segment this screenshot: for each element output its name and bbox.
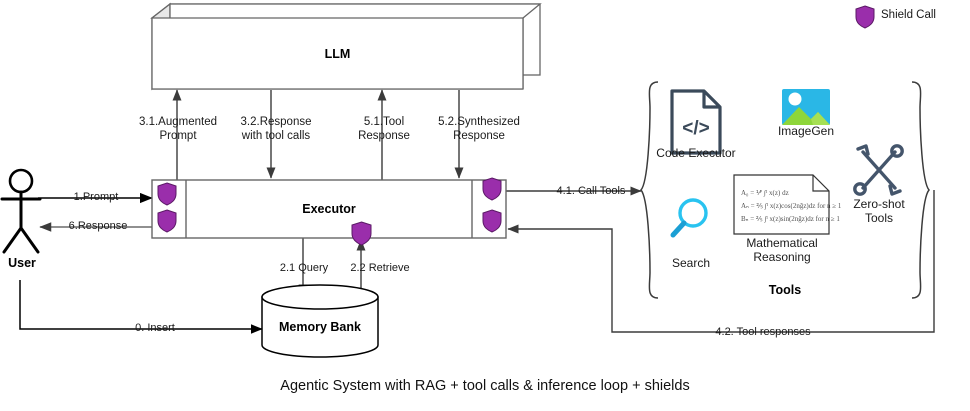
edge-label-prompt: 1.Prompt (48, 191, 144, 204)
tool-label-code-executor: Code Executor (646, 146, 746, 160)
edge-label-call-tools: 4.1. Call Tools (538, 185, 644, 198)
llm-label: LLM (152, 47, 523, 61)
tools-group-label: Tools (720, 283, 850, 297)
shield-icon (482, 177, 502, 201)
shield-icon (157, 209, 177, 233)
edge-label-response-with-tool-calls: 3.2.Response with tool calls (222, 116, 330, 143)
legend-shield-label: Shield Call (881, 9, 936, 21)
memory-bank-label: Memory Bank (262, 320, 378, 334)
user-label: User (0, 256, 44, 270)
svg-text:A₀ = ⅟ᴾ ∫ᴵ x(z) dz: A₀ = ⅟ᴾ ∫ᴵ x(z) dz (741, 189, 789, 197)
edge-label-tool-responses: 4.2. Tool responses (668, 326, 858, 339)
wrench-screwdriver-icon (851, 142, 907, 198)
shield-icon (157, 182, 177, 206)
tool-label-imagegen: ImageGen (756, 124, 856, 138)
user-actor (2, 170, 40, 252)
svg-text:Bₙ = ⅖ ∫ᴵ x(z)sin(2nğz)dz fo: Bₙ = ⅖ ∫ᴵ x(z)sin(2nğz)dz for n ≥ 1 (741, 215, 840, 223)
edge-label-insert: 0. Insert (60, 322, 250, 335)
diagram-caption: Agentic System with RAG + tool calls & i… (0, 378, 970, 394)
shield-icon (482, 209, 502, 233)
edge-label-synthesized-response: 5.2.Synthesized Response (424, 116, 534, 143)
tool-label-search: Search (645, 256, 737, 270)
image-icon (781, 88, 831, 126)
executor-label: Executor (186, 202, 472, 216)
magnifier-icon (668, 196, 714, 242)
tool-label-zero-shot: Zero-shot Tools (838, 197, 920, 225)
edge-label-tool-response: 5.1.Tool Response (338, 116, 430, 143)
svg-text:Aₙ = ⅖ ∫ᴵ x(z)cos(2nğz)dz fo: Aₙ = ⅖ ∫ᴵ x(z)cos(2nğz)dz for n ≥ 1 (741, 202, 842, 210)
shield-icon (351, 221, 372, 246)
edge-label-response: 6.Response (46, 220, 150, 233)
svg-text:</>: </> (682, 118, 709, 139)
edge-label-augmented-prompt: 3.1.Augmented Prompt (128, 116, 228, 143)
edge-label-retrieve: 2.2 Retrieve (330, 262, 430, 275)
tool-label-math-reasoning: Mathematical Reasoning (726, 236, 838, 264)
legend-shield-icon (855, 5, 875, 29)
formula-document-icon: A₀ = ⅟ᴾ ∫ᴵ x(z) dz Aₙ = ⅖ ∫ᴵ x(z)cos(2nğ… (733, 174, 831, 236)
